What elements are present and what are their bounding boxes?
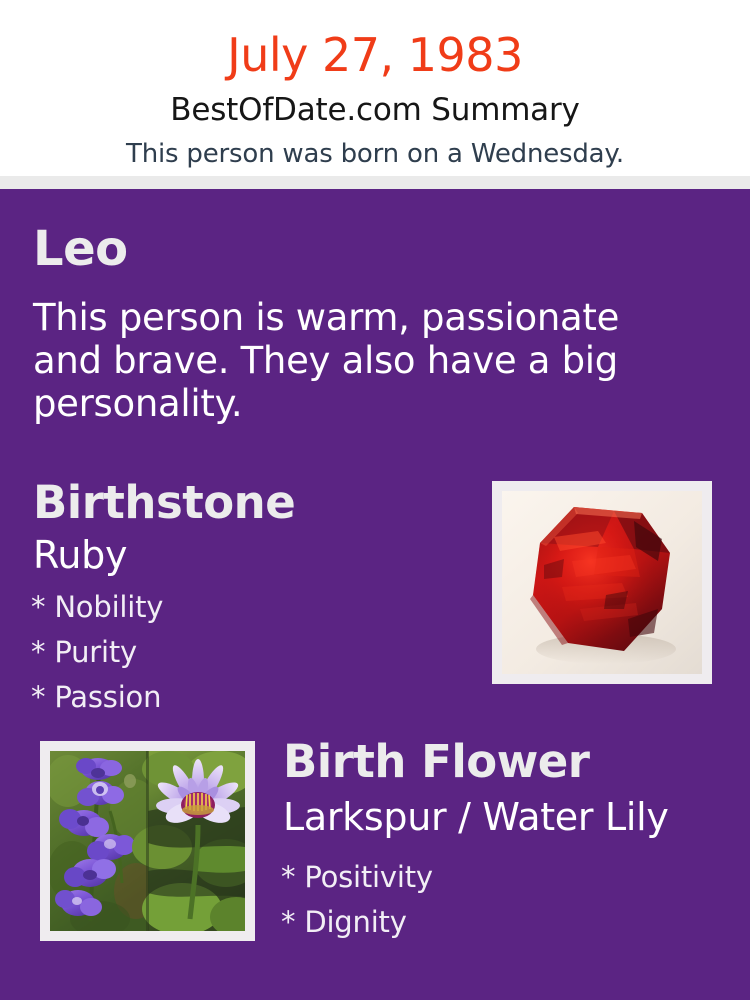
birthstone-image-inner: [502, 491, 702, 674]
birthstone-trait-list: * Nobility * Purity * Passion: [31, 585, 163, 720]
zodiac-description: This person is warm, passionate and brav…: [33, 296, 693, 425]
birth-flower-trait-list: * Positivity * Dignity: [281, 855, 433, 945]
page-title: July 27, 1983: [0, 0, 750, 78]
larkspur-water-lily-icon: [50, 751, 245, 931]
birthstone-image: [492, 481, 712, 684]
site-summary-label: BestOfDate.com Summary: [0, 95, 750, 126]
summary-page: July 27, 1983 BestOfDate.com Summary Thi…: [0, 0, 750, 1000]
birthstone-heading: Birthstone: [33, 478, 295, 528]
zodiac-sign-name: Leo: [33, 222, 128, 277]
birth-flower-heading: Birth Flower: [283, 737, 590, 787]
birth-flower-image-inner: [50, 751, 245, 931]
birth-flower-image: [40, 741, 255, 941]
list-item: * Nobility: [31, 585, 163, 630]
list-item: * Positivity: [281, 855, 433, 900]
ruby-crystal-icon: [502, 491, 702, 674]
list-item: * Dignity: [281, 900, 433, 945]
list-item: * Passion: [31, 675, 163, 720]
birth-flower-name: Larkspur / Water Lily: [283, 797, 669, 839]
header-divider: [0, 176, 750, 189]
page-header: July 27, 1983 BestOfDate.com Summary Thi…: [0, 0, 750, 176]
born-weekday-text: This person was born on a Wednesday.: [0, 141, 750, 167]
list-item: * Purity: [31, 630, 163, 675]
birthstone-name: Ruby: [33, 535, 127, 577]
